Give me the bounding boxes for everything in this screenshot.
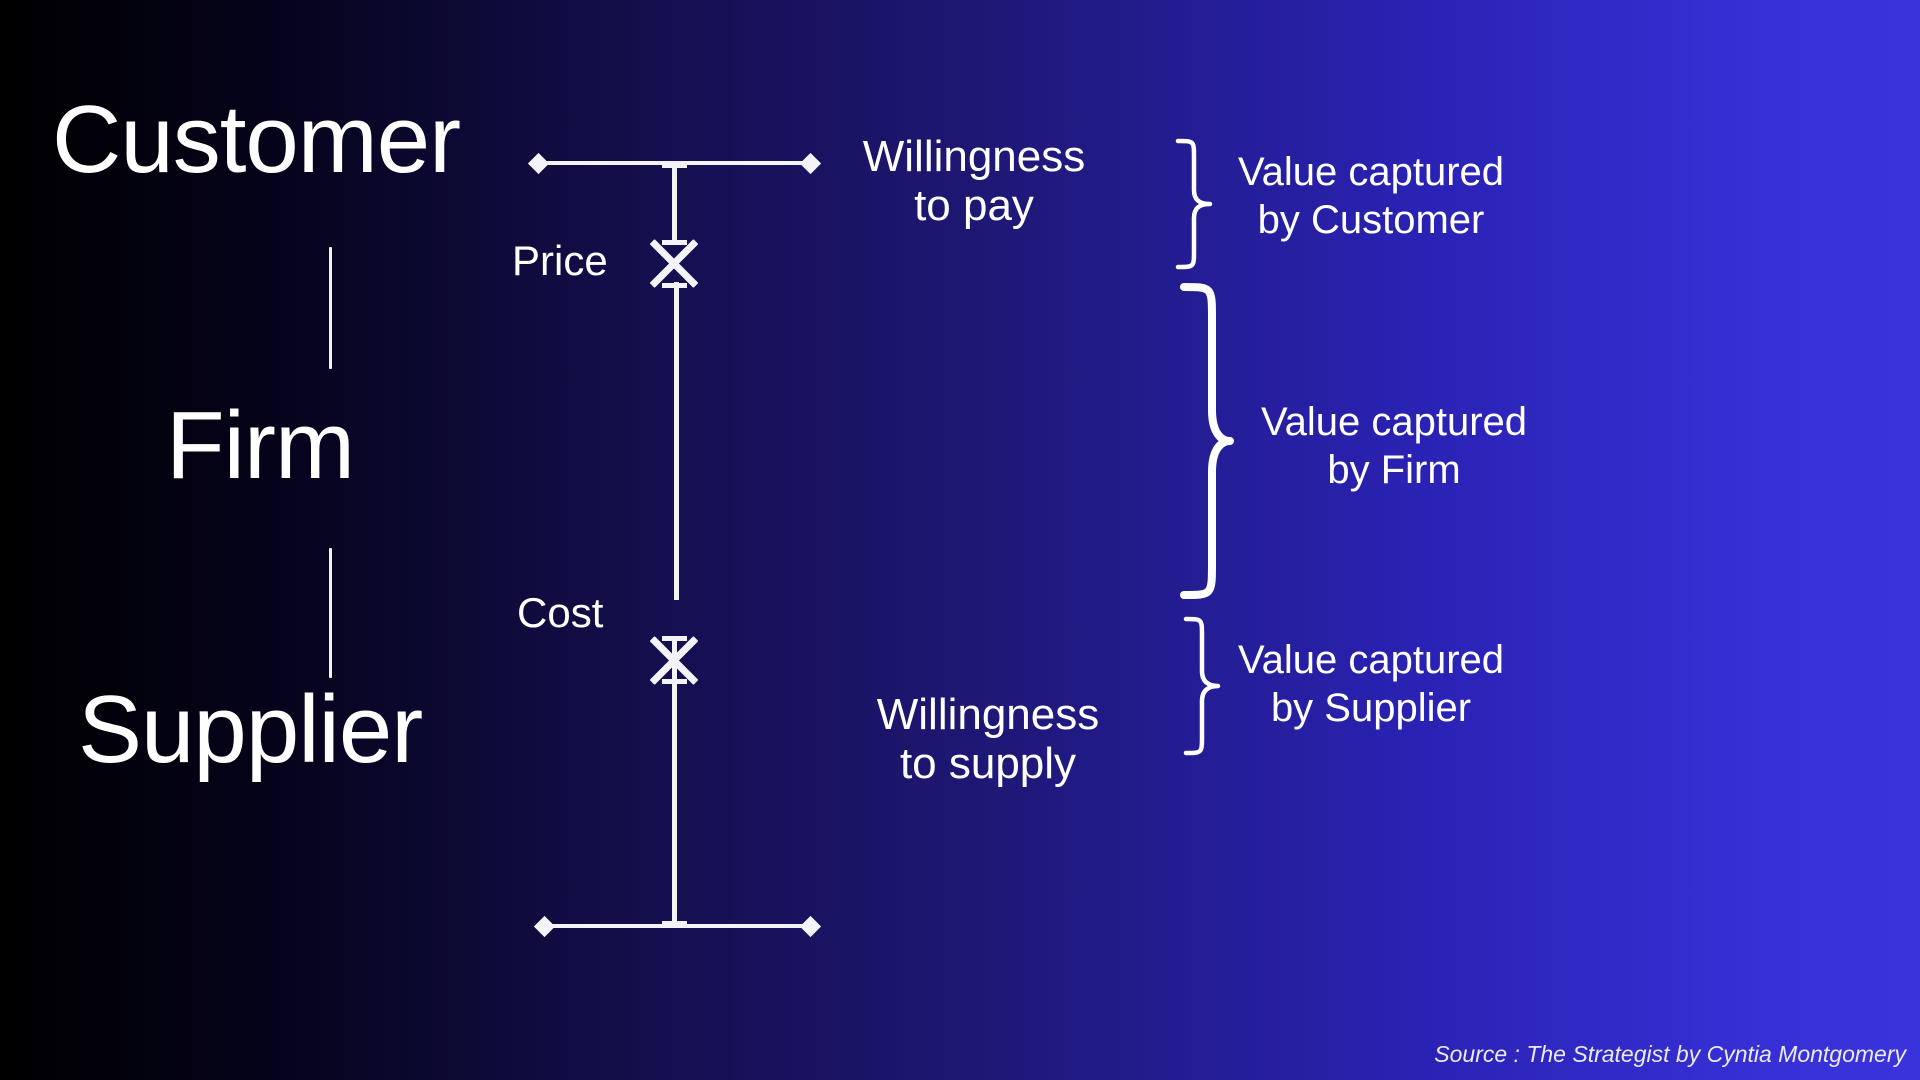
value-captured-firm-line2: by Firm	[1238, 446, 1550, 494]
diamond-endpoint-icon	[534, 916, 555, 937]
willingness-to-supply-line1: Willingness	[850, 690, 1126, 739]
value-captured-customer-line1: Value captured	[1212, 148, 1530, 196]
value-captured-supplier-line2: by Supplier	[1212, 684, 1530, 732]
brace-firm-icon	[1178, 282, 1234, 600]
willingness-to-pay-line1: Willingness	[836, 132, 1112, 181]
brace-customer-icon	[1172, 138, 1216, 270]
value-stick-segment-bottom	[672, 640, 677, 926]
value-captured-supplier-line1: Value captured	[1212, 636, 1530, 684]
willingness-to-pay-line2: to pay	[836, 181, 1112, 230]
diagram-canvas: Customer Firm Supplier Price Cost Willin…	[0, 0, 1920, 1080]
cost-label: Cost	[517, 592, 603, 634]
willingness-to-pay-label: Willingness to pay	[836, 132, 1112, 231]
diamond-endpoint-icon	[528, 153, 549, 174]
diamond-endpoint-icon	[800, 916, 821, 937]
connector-customer-firm	[329, 247, 332, 369]
value-captured-supplier-label: Value captured by Supplier	[1212, 636, 1530, 732]
source-attribution: Source : The Strategist by Cyntia Montgo…	[1434, 1041, 1906, 1068]
value-captured-customer-line2: by Customer	[1212, 196, 1530, 244]
connector-firm-supplier	[329, 548, 332, 678]
value-captured-customer-label: Value captured by Customer	[1212, 148, 1530, 244]
actor-label-firm: Firm	[166, 398, 354, 494]
value-captured-firm-line1: Value captured	[1238, 398, 1550, 446]
willingness-to-supply-label: Willingness to supply	[850, 690, 1126, 789]
willingness-to-supply-rule	[551, 924, 809, 928]
actor-label-supplier: Supplier	[78, 682, 422, 778]
price-label: Price	[512, 240, 608, 282]
segment-cap	[662, 163, 687, 168]
actor-label-customer: Customer	[52, 92, 460, 188]
diamond-endpoint-icon	[800, 153, 821, 174]
value-captured-firm-label: Value captured by Firm	[1238, 398, 1550, 494]
willingness-to-supply-line2: to supply	[850, 739, 1126, 788]
value-stick-segment-middle	[674, 282, 679, 600]
